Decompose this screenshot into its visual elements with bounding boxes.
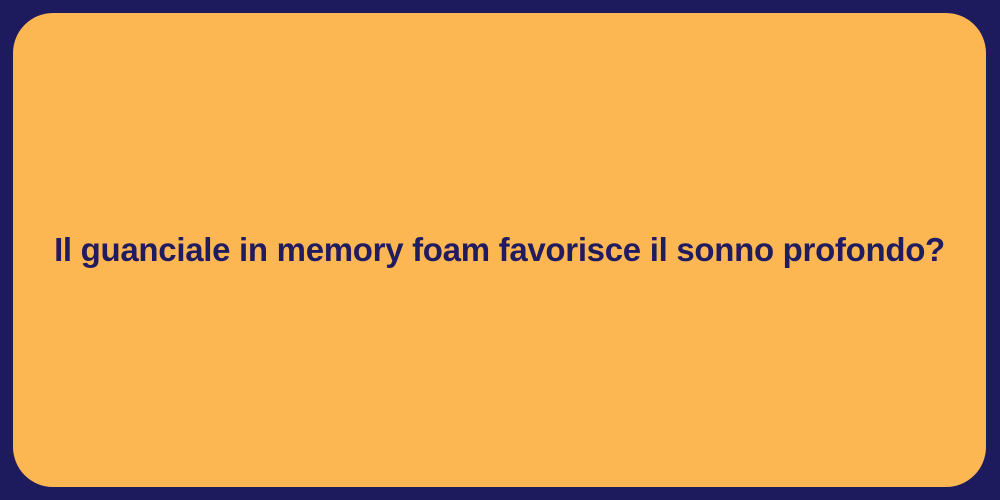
question-card-frame: Il guanciale in memory foam favorisce il… <box>0 0 1000 500</box>
question-title: Il guanciale in memory foam favorisce il… <box>54 229 945 270</box>
question-card-panel: Il guanciale in memory foam favorisce il… <box>13 13 986 487</box>
